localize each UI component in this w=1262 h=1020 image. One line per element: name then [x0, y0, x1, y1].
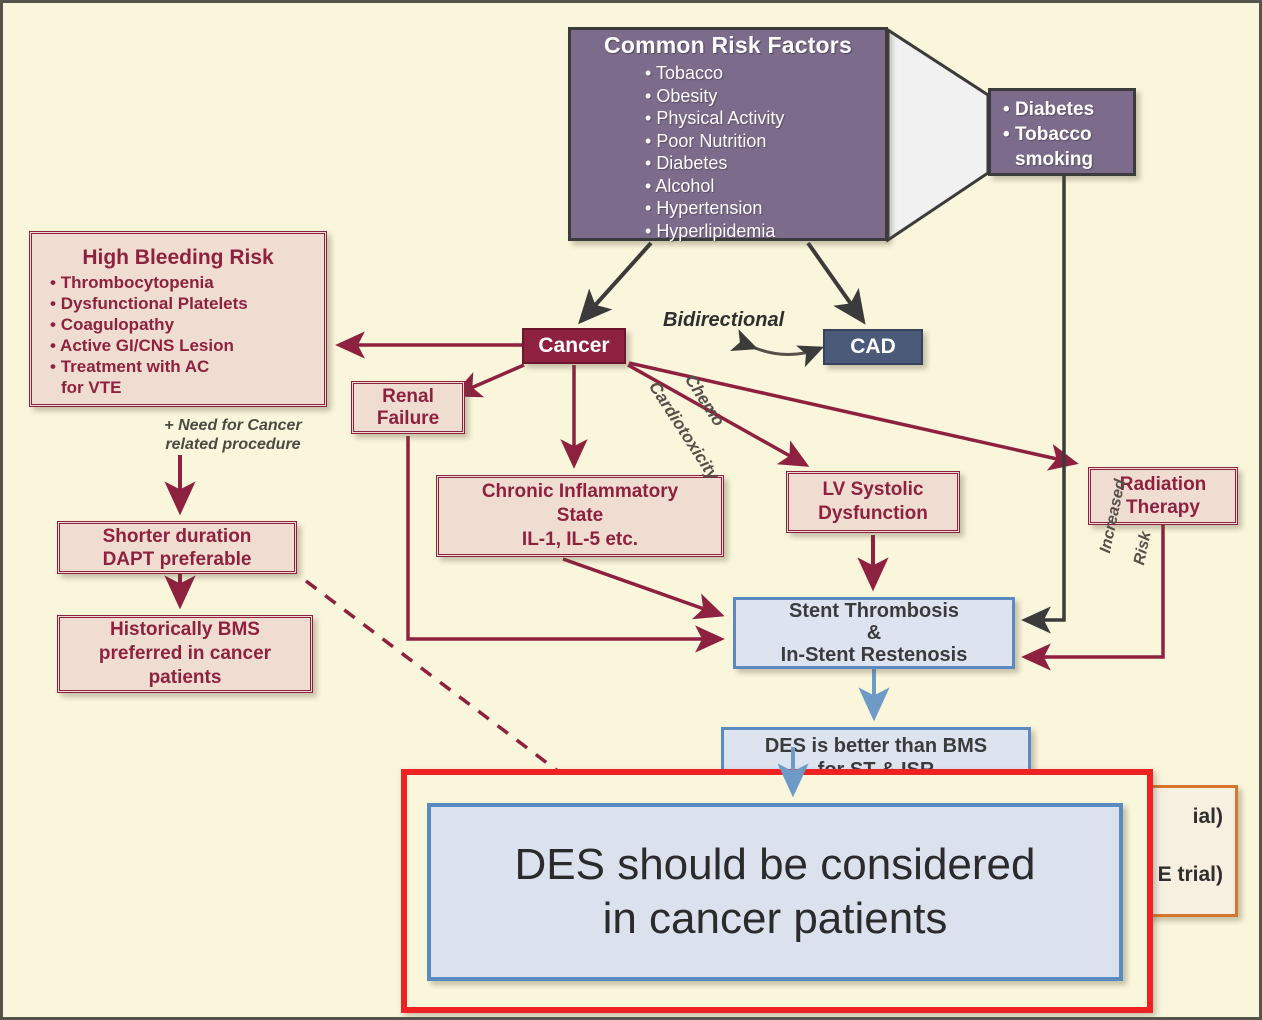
list-item: Hypertension: [645, 197, 784, 220]
bleeding-item-continuation: for VTE: [50, 377, 248, 398]
risk-factors-title: Common Risk Factors: [571, 32, 885, 59]
wire-cancer-cad-bidirectional: [755, 348, 821, 355]
node-lv-line1: LV Systolic: [822, 478, 923, 502]
list-item: Active GI/CNS Lesion: [50, 335, 248, 356]
list-item: Treatment with ACfor VTE: [50, 356, 248, 398]
wire-risk-to-cad: [808, 243, 863, 321]
node-lv-systolic-dysfunction: LV Systolic Dysfunction: [786, 471, 960, 533]
node-cad: CAD: [823, 329, 923, 365]
node-cad-label: CAD: [850, 335, 896, 359]
node-radiation-line1: Radiation: [1120, 473, 1207, 496]
node-lv-line2: Dysfunction: [818, 502, 928, 526]
need-procedure-line1: + Need for Cancer: [133, 416, 333, 435]
risk-factors-list: Tobacco Obesity Physical Activity Poor N…: [571, 62, 784, 242]
label-risk: Risk: [1131, 530, 1156, 567]
conclusion-line2: in cancer patients: [603, 892, 948, 946]
label-bidirectional: Bidirectional: [663, 309, 784, 332]
node-shorter-line1: Shorter duration: [103, 525, 252, 548]
node-historic-line2: preferred in cancer: [99, 642, 271, 666]
node-desbetter-line1: DES is better than BMS: [765, 734, 987, 758]
callout-list: Diabetes Tobaccosmoking: [991, 97, 1094, 172]
common-risk-factors-panel: Common Risk Factors Tobacco Obesity Phys…: [568, 27, 888, 241]
list-item: Physical Activity: [645, 107, 784, 130]
node-cancer-label: Cancer: [538, 334, 609, 358]
list-item: Tobaccosmoking: [1003, 122, 1094, 172]
node-stent-thrombosis-restenosis: Stent Thrombosis & In-Stent Restenosis: [733, 597, 1015, 669]
node-shorter-line2: DAPT preferable: [103, 548, 252, 571]
node-cancer: Cancer: [522, 328, 626, 364]
node-radiation-line2: Therapy: [1126, 496, 1200, 519]
flowchart-canvas: Common Risk Factors Tobacco Obesity Phys…: [0, 0, 1262, 1020]
high-bleeding-risk-panel: High Bleeding Risk Thrombocytopenia Dysf…: [29, 231, 327, 407]
conclusion-box: DES should be considered in cancer patie…: [427, 803, 1123, 981]
node-historic-line1: Historically BMS: [110, 618, 260, 642]
list-item: Poor Nutrition: [645, 130, 784, 153]
diabetes-tobacco-callout: Diabetes Tobaccosmoking: [988, 88, 1136, 176]
node-renal-line1: Renal: [382, 386, 434, 408]
node-stent-line3: In-Stent Restenosis: [781, 644, 968, 666]
list-item: Thrombocytopenia: [50, 272, 248, 293]
list-item: Hyperlipidemia: [645, 220, 784, 243]
wire-cancer-to-renal: [455, 365, 524, 395]
conclusion-line1: DES should be considered: [515, 838, 1036, 892]
node-chronic-line3: IL-1, IL-5 etc.: [522, 528, 638, 552]
need-procedure-line2: related procedure: [133, 435, 333, 454]
list-item: Diabetes: [645, 152, 784, 175]
list-item: Tobacco: [645, 62, 784, 85]
list-item: Diabetes: [1003, 97, 1094, 122]
node-stent-line2: &: [867, 622, 881, 644]
list-item: Obesity: [645, 85, 784, 108]
trial-line1: ial): [1193, 788, 1223, 846]
node-shorter-duration-dapt: Shorter duration DAPT preferable: [57, 521, 297, 574]
node-chronic-inflammatory-state: Chronic Inflammatory State IL-1, IL-5 et…: [436, 475, 724, 557]
node-stent-line1: Stent Thrombosis: [789, 600, 959, 622]
wire-risk-to-cancer: [581, 243, 651, 321]
node-historic-line3: patients: [149, 666, 222, 690]
callout-item-continuation: smoking: [1003, 147, 1094, 172]
node-renal-failure: Renal Failure: [351, 381, 465, 434]
callout-connector-shape: [888, 30, 988, 240]
label-need-for-cancer-procedure: + Need for Cancer related procedure: [133, 416, 333, 454]
node-chronic-line2: State: [557, 504, 603, 528]
node-chronic-line1: Chronic Inflammatory: [482, 480, 678, 504]
list-item: Coagulopathy: [50, 314, 248, 335]
list-item: Alcohol: [645, 175, 784, 198]
bleeding-risk-title: High Bleeding Risk: [32, 246, 324, 270]
bleeding-risk-list: Thrombocytopenia Dysfunctional Platelets…: [32, 272, 248, 398]
list-item: Dysfunctional Platelets: [50, 293, 248, 314]
wire-callout-to-stent: [1025, 176, 1064, 620]
wire-dashed-to-conclusion: [306, 581, 563, 775]
node-historically-bms: Historically BMS preferred in cancer pat…: [57, 615, 313, 693]
node-renal-line2: Failure: [377, 408, 439, 430]
trial-line2: E trial): [1158, 846, 1223, 904]
wire-chronic-to-stent: [563, 559, 721, 615]
